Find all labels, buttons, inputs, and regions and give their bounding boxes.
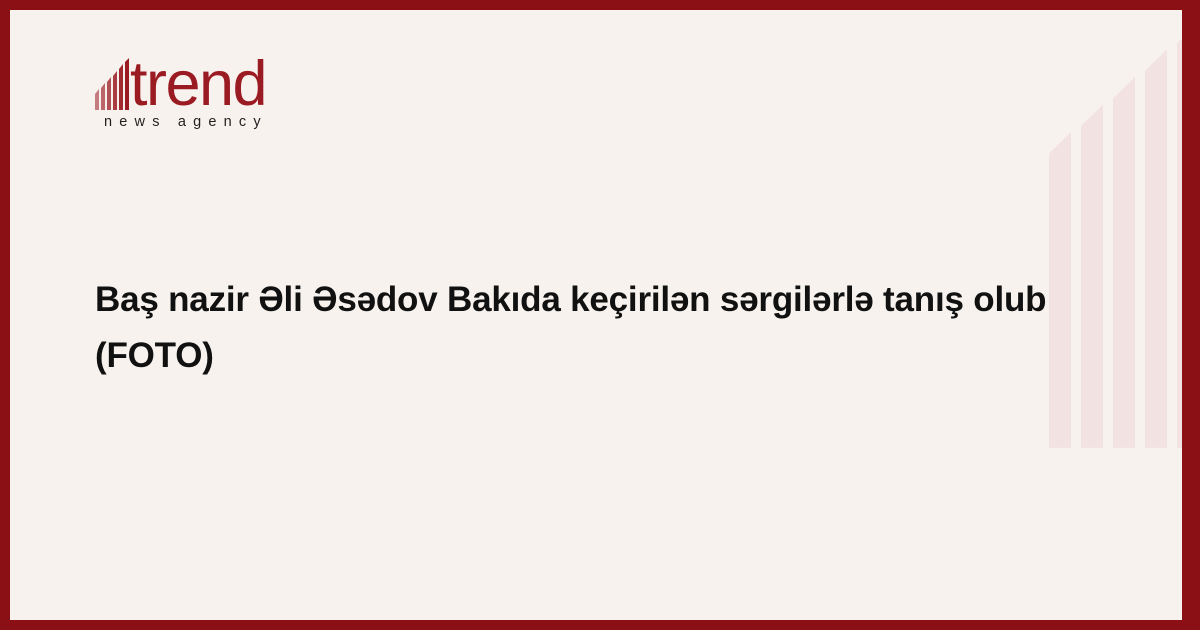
trend-logo[interactable]: trend news agency (95, 48, 355, 130)
logo-mark-row: trend (95, 48, 355, 110)
logo-wordmark: trend (130, 55, 266, 113)
headline-text: Baş nazir Əli Əsədov Bakıda keçirilən sə… (95, 272, 1055, 384)
ascending-bars-mark-icon (95, 58, 129, 110)
card-canvas: trend news agency Baş nazir Əli Əsədov B… (10, 10, 1182, 620)
social-share-card: trend news agency Baş nazir Əli Əsədov B… (0, 0, 1200, 630)
